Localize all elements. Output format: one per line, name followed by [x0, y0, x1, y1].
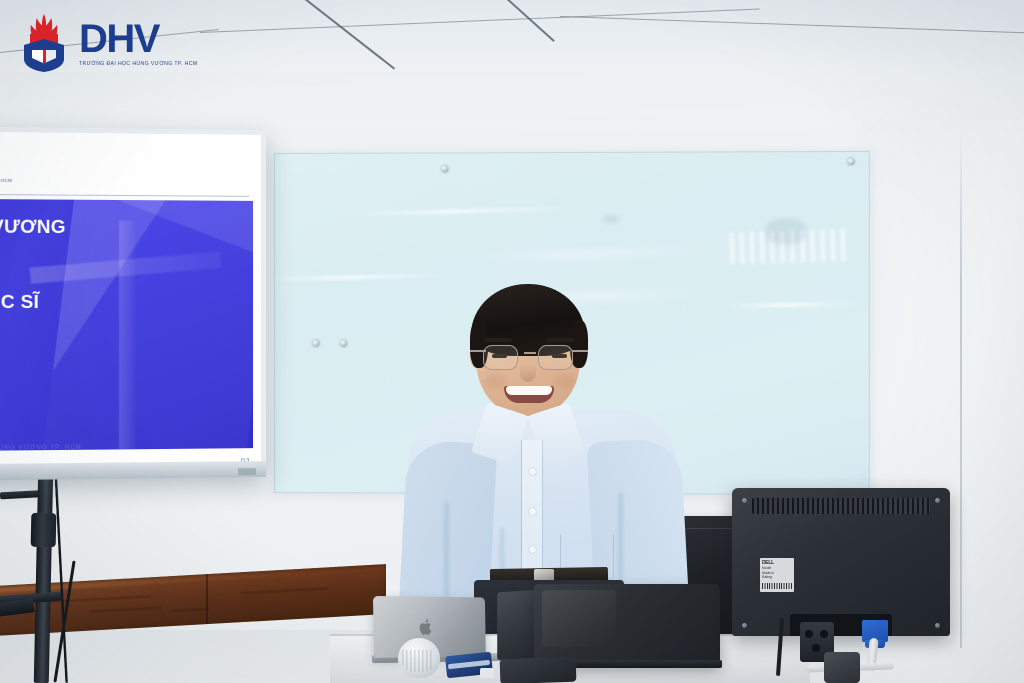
slide-watermark-subtitle: TRƯỜNG ĐẠI HỌC HÙNG VƯƠNG TP. HCM [0, 445, 82, 452]
brand-text: DHV TRƯỜNG ĐẠI HỌC HÙNG VƯƠNG TP. HCM [79, 19, 197, 67]
brand-subtitle: TRƯỜNG ĐẠI HỌC HÙNG VƯƠNG TP. HCM [79, 62, 197, 67]
whiteboard-screw [441, 165, 448, 172]
slide-header-rule [0, 194, 249, 197]
wood-grain [170, 608, 210, 612]
desk-accessory-small-white [480, 668, 494, 678]
whiteboard-smudge [603, 215, 619, 223]
monitor-screw [935, 623, 940, 628]
slide-line-2: HÍ MINH [0, 242, 109, 264]
slide-photo-column [119, 220, 135, 449]
slide-watermark: DHV [0, 387, 72, 451]
cheek-right [554, 374, 576, 388]
eyeglasses-arm-right [572, 350, 588, 352]
monitor-screw [935, 498, 940, 503]
monitor-spec-label: DELL Model Made in Rating [760, 558, 794, 592]
whiteboard-reflection [725, 302, 856, 308]
monitor-screw [742, 498, 747, 503]
whiteboard-screw [848, 158, 855, 165]
nose [520, 364, 536, 382]
dell-monitor[interactable]: DELL Model Made in Rating [732, 488, 950, 636]
slide-line-1: C HÙNG VƯƠNG [0, 215, 109, 238]
whiteboard-reflection [354, 206, 573, 216]
desk-accessory-dark [500, 657, 577, 683]
whiteboard-screw [312, 340, 319, 347]
cheek-left [484, 374, 506, 388]
monitor-stand-hole [812, 644, 820, 652]
shield-crown-icon [18, 14, 70, 72]
smartphone[interactable] [824, 652, 860, 683]
brand-logo-overlay: DHV TRƯỜNG ĐẠI HỌC HÙNG VƯƠNG TP. HCM [18, 14, 197, 72]
eyeglasses-lens-left [483, 345, 518, 370]
monitor-screw [742, 623, 747, 628]
eyeglasses-lens-right [538, 345, 573, 370]
dark-laptop[interactable] [534, 584, 720, 666]
mouth [504, 386, 554, 403]
presentation-slide: DHV TRƯỜNG ĐẠI HỌC HÙNG VƯƠNG TP. HCM C … [0, 131, 261, 473]
tv-stand-collar [31, 513, 57, 548]
monitor-vent [752, 498, 930, 514]
monitor-barcode [762, 583, 792, 589]
wood-grain [240, 587, 328, 594]
slide-line-3: g [0, 277, 109, 288]
macbook-secondary-panel [497, 590, 536, 660]
shirt-button [529, 546, 536, 553]
shirt-button [529, 508, 536, 515]
eyeglasses-bridge [524, 352, 536, 354]
teeth [506, 386, 552, 395]
slide-line-4: Ề ÁN THẠC SĨ [0, 291, 109, 313]
display-brand-plate [238, 468, 256, 475]
brand-title: DHV [79, 19, 197, 59]
wood-plank-seam [206, 574, 208, 624]
monitor-label-line-3: Rating [762, 575, 792, 579]
slide-body: C HÙNG VƯƠNG HÍ MINH g Ề ÁN THẠC SĨ DHV … [0, 199, 253, 452]
shirt-button [529, 468, 536, 475]
display-screen: DHV TRƯỜNG ĐẠI HỌC HÙNG VƯƠNG TP. HCM C … [0, 131, 261, 473]
whiteboard-reflection [274, 273, 453, 281]
laptop-screen-gloss [542, 590, 616, 647]
eyebrow-right [546, 338, 574, 342]
apple-logo-icon [418, 618, 434, 637]
whiteboard-smudge [766, 218, 806, 244]
wood-grain [90, 607, 162, 613]
presentation-display[interactable]: DHV TRƯỜNG ĐẠI HỌC HÙNG VƯƠNG TP. HCM C … [0, 126, 266, 479]
eyebrow-left [484, 338, 512, 342]
slide-logo-title: DHV [0, 137, 261, 179]
slide-header: DHV TRƯỜNG ĐẠI HỌC HÙNG VƯƠNG TP. HCM [0, 137, 261, 197]
photo-scene: DHV TRƯỜNG ĐẠI HỌC HÙNG VƯƠNG TP. HCM C … [0, 0, 1024, 683]
monitor-stand-hole [805, 630, 813, 638]
whiteboard-reflection [453, 244, 733, 263]
wall-corner [960, 128, 962, 648]
desk-accessory-white-ridges [402, 650, 434, 672]
slide-text-block: C HÙNG VƯƠNG HÍ MINH g Ề ÁN THẠC SĨ [0, 215, 109, 312]
monitor-stand-hole [820, 630, 828, 638]
eyeglasses-arm-left [470, 350, 486, 352]
whiteboard-screw [340, 340, 347, 347]
